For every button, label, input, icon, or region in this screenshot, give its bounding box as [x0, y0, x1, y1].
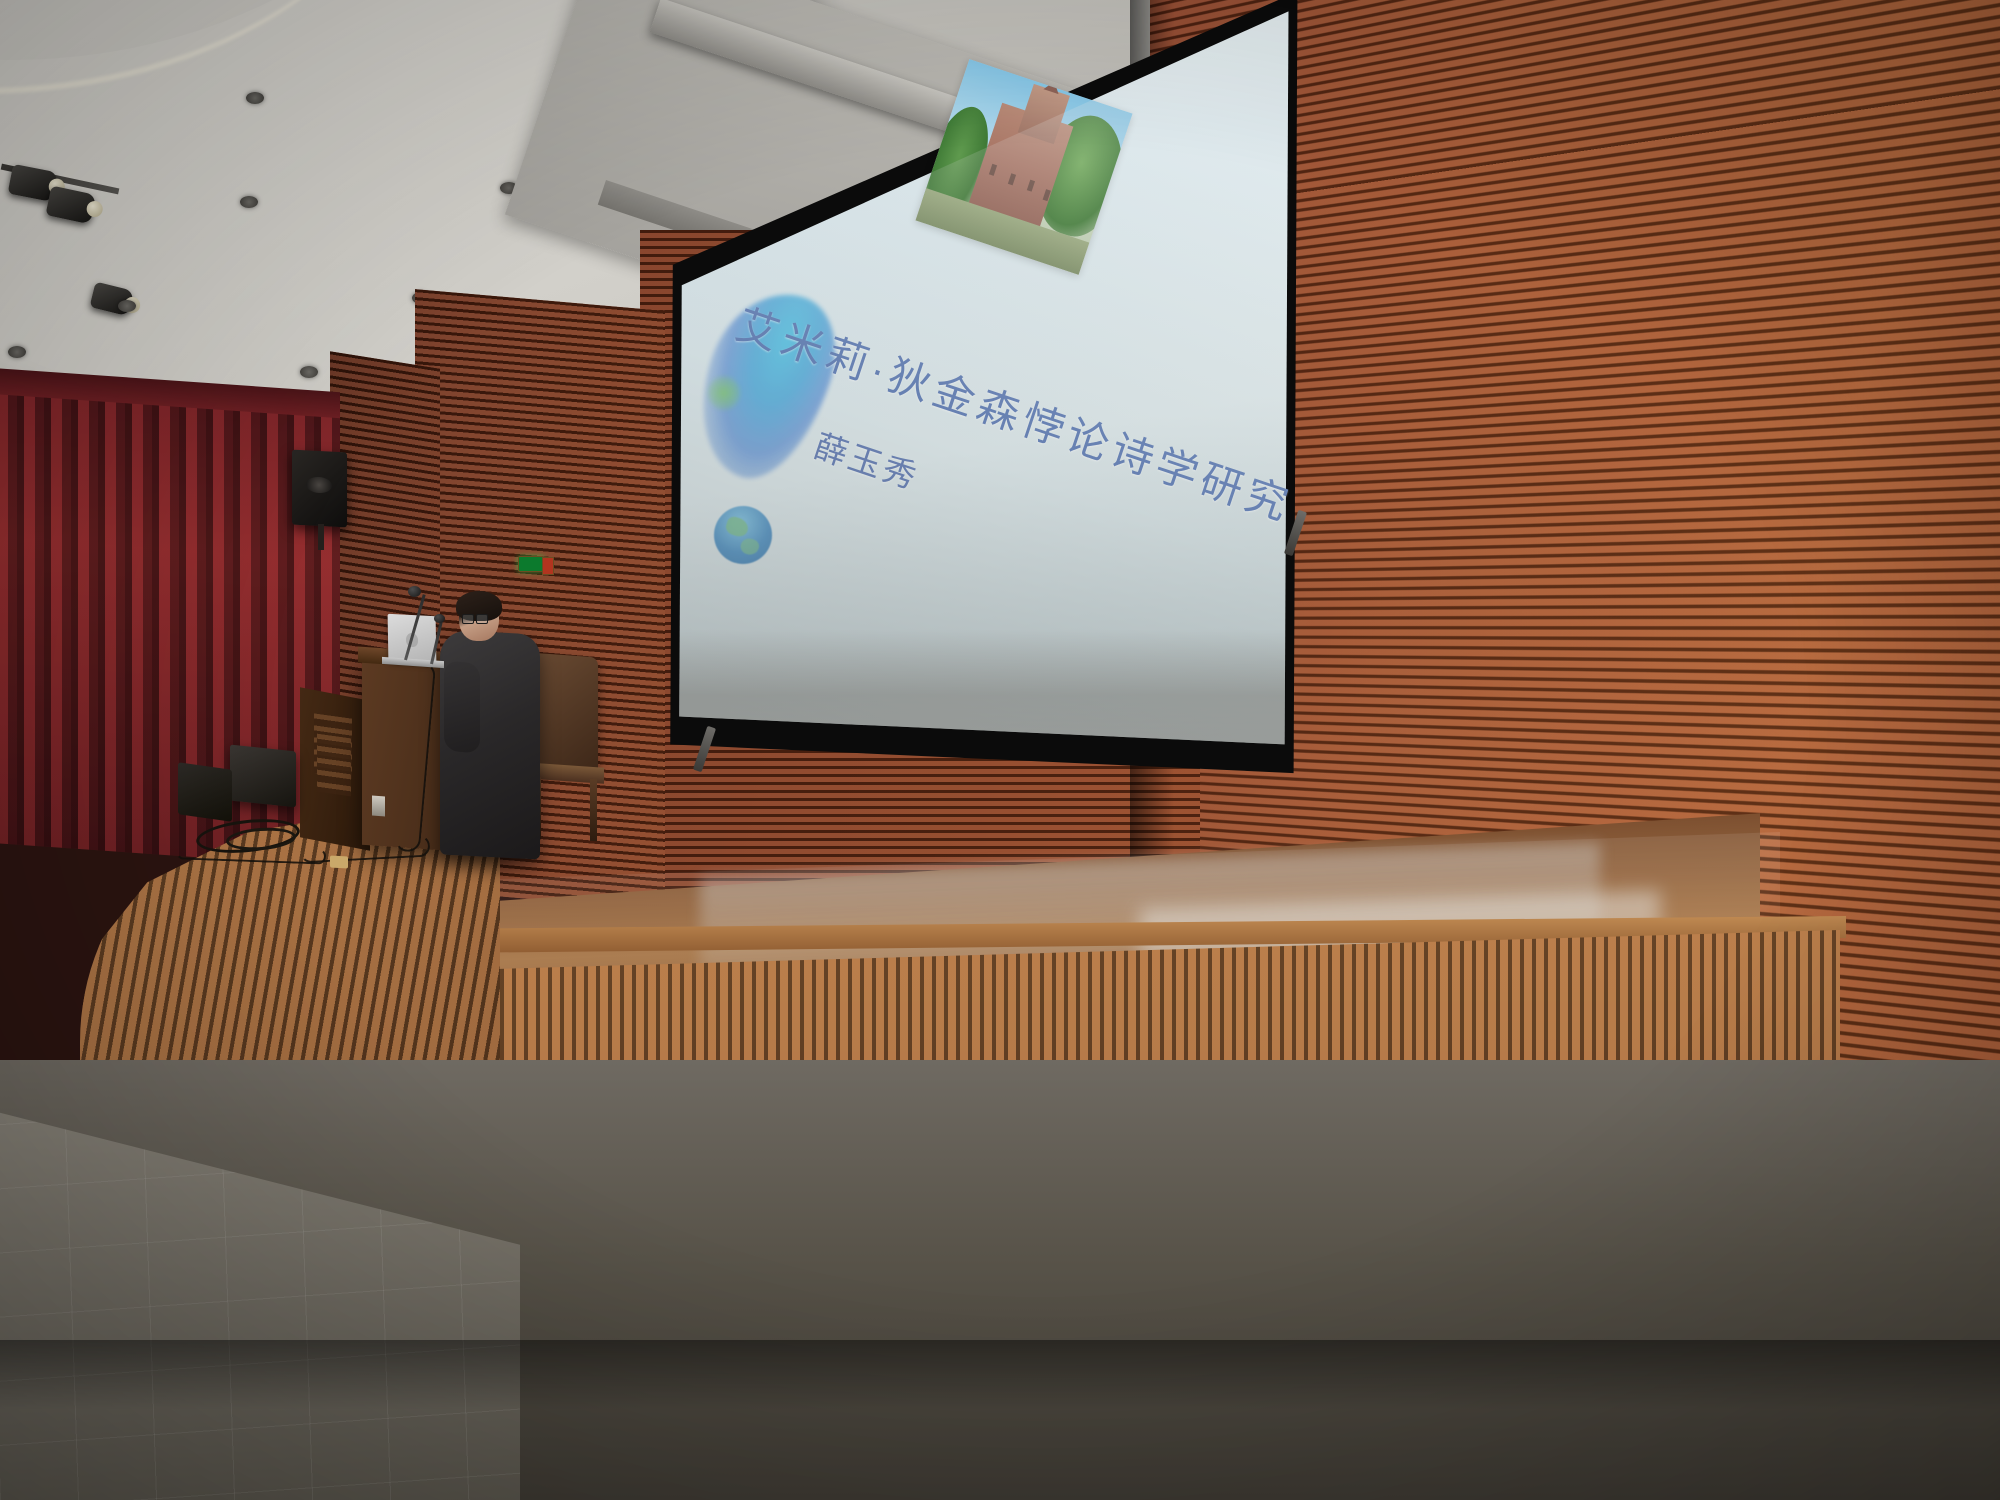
chair-backrest [530, 653, 598, 773]
floor-power-outlet[interactable] [330, 856, 348, 869]
emergency-exit-sign-icon [518, 556, 544, 572]
recessed-downlight-icon [8, 346, 26, 358]
chair-leg [590, 779, 597, 841]
black-equipment-case[interactable] [230, 745, 296, 808]
cove-light-strip [0, 0, 420, 94]
recessed-downlight-icon [300, 366, 318, 378]
black-equipment-case[interactable] [178, 762, 232, 822]
lectern-trim [317, 734, 351, 797]
lectern-nameplate [372, 796, 385, 817]
eyeglasses-icon [462, 614, 488, 623]
recessed-downlight-icon [118, 300, 136, 312]
presenter-arm [444, 660, 480, 753]
recessed-downlight-icon [240, 196, 258, 208]
microphone-icon[interactable] [408, 586, 421, 597]
wooden-chair[interactable] [530, 653, 598, 843]
lecture-hall-photograph: 艾米莉·狄金森悖论诗学研究 薛玉秀 [0, 0, 2000, 1500]
projection-screen[interactable]: 艾米莉·狄金森悖论诗学研究 薛玉秀 [660, 0, 1300, 810]
recessed-downlight-icon [246, 92, 264, 104]
stage-base-shadow [0, 1340, 2000, 1410]
speaker-bracket [318, 524, 324, 550]
microphone-icon[interactable] [434, 614, 445, 623]
loudspeaker-icon [292, 450, 347, 528]
